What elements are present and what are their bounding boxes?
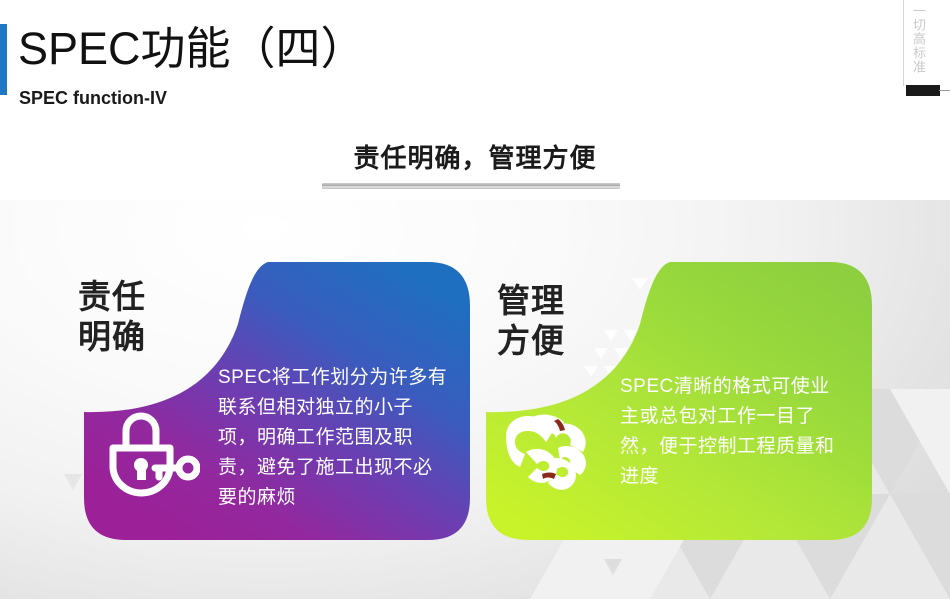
section-title: 责任明确，管理方便 <box>0 141 950 175</box>
page-subtitle: SPEC function-IV <box>19 87 167 109</box>
card-responsibility-body: SPEC将工作划分为许多有联系但相对独立的小子项，明确工作范围及职责，避免了施工… <box>218 363 448 513</box>
section-title-underline <box>322 183 620 189</box>
card-responsibility-kicker: 责任 明确 <box>78 277 208 357</box>
card-management-body: SPEC清晰的格式可使业主或总包对工作一目了然，便于控制工程质量和进度 <box>620 372 848 492</box>
side-mark-tail <box>939 90 950 91</box>
slide-canvas: SPEC功能（四） SPEC function-IV 一切高标准 责任明确，管理… <box>0 0 950 599</box>
side-mark-block <box>906 85 940 96</box>
header-accent-bar <box>0 24 7 95</box>
side-mark-text: 一切高标准 <box>908 4 928 74</box>
decorative-triangle-bottom <box>600 555 626 579</box>
page-title: SPEC功能（四） <box>18 22 366 76</box>
padlock-key-icon <box>102 410 200 498</box>
side-mark-rule <box>903 0 904 86</box>
card-management-kicker: 管理 方便 <box>497 281 627 361</box>
handshake-icon <box>496 402 612 500</box>
